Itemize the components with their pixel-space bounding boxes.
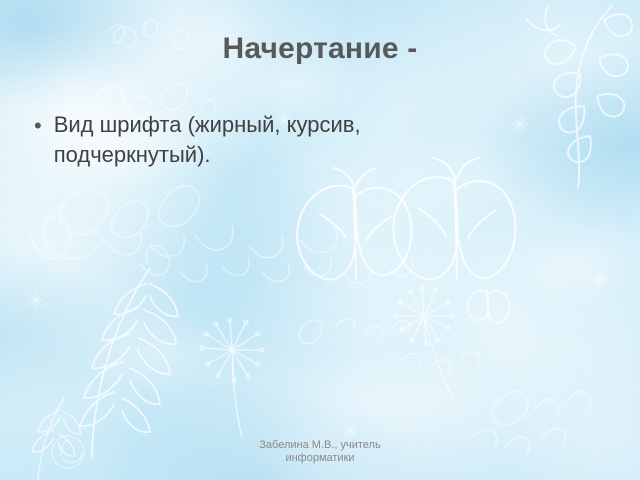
butterfly-right-icon xyxy=(393,158,515,279)
background-gradient xyxy=(0,0,640,480)
background-blue-wash xyxy=(0,0,640,480)
slide-title: Начертание - xyxy=(0,32,640,66)
butterfly-small-icon xyxy=(467,290,509,323)
handwriting-script-icon xyxy=(30,20,591,454)
slide-canvas: Начертание - • Вид шрифта (жирный, курси… xyxy=(0,0,640,480)
footer-line-1: Забелина М.В., учитель xyxy=(0,439,640,453)
bullet-text: Вид шрифта (жирный, курсив, подчеркнутый… xyxy=(54,110,514,169)
list-item: • Вид шрифта (жирный, курсив, подчеркнут… xyxy=(34,110,520,169)
slide-body: • Вид шрифта (жирный, курсив, подчеркнут… xyxy=(34,110,520,169)
footer-line-2: информатики xyxy=(0,452,640,466)
bullet-marker-icon: • xyxy=(34,111,42,141)
slide-footer: Забелина М.В., учитель информатики xyxy=(0,439,640,467)
feather-large-icon xyxy=(80,268,178,458)
dandelion-right-icon xyxy=(394,286,454,396)
dandelion-left-icon xyxy=(200,318,264,438)
butterfly-left-icon xyxy=(297,168,411,280)
background-decoration xyxy=(0,0,640,480)
background-clouds xyxy=(0,0,640,480)
